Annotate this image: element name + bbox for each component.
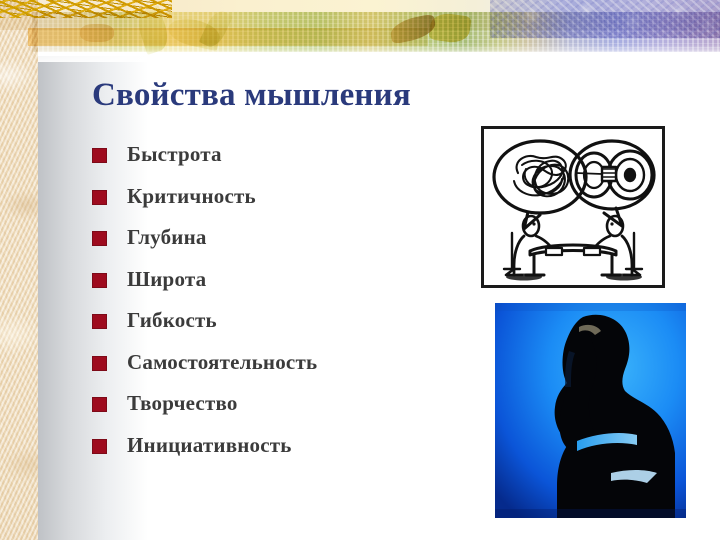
square-bullet-icon [92,148,107,163]
list-item-label: Гибкость [127,308,217,333]
cartoon-two-people-thought-bubbles [481,126,665,288]
list-item: Творчество [92,383,492,425]
slide: Свойства мышления Быстрота Критичность Г… [0,0,720,540]
list-item: Критичность [92,176,492,218]
banner-bottom-fade [38,44,720,62]
square-bullet-icon [92,356,107,371]
page-title: Свойства мышления [92,78,512,113]
list-item-label: Широта [127,267,206,292]
list-item-label: Быстрота [127,142,222,167]
list-item: Глубина [92,217,492,259]
list-item-label: Критичность [127,184,256,209]
square-bullet-icon [92,190,107,205]
list-item-label: Самостоятельность [127,350,317,375]
top-banner [0,0,720,62]
list-item: Инициативность [92,425,492,467]
thinker-silhouette-photo [495,303,686,518]
properties-list: Быстрота Критичность Глубина Широта Гибк… [92,134,492,466]
banner-hydrangea-block [490,0,720,38]
left-edge-texture [0,0,38,540]
list-item-label: Инициативность [127,433,292,458]
list-item-label: Глубина [127,225,207,250]
list-item: Гибкость [92,300,492,342]
square-bullet-icon [92,397,107,412]
cartoon-drawing [484,129,662,285]
square-bullet-icon [92,273,107,288]
banner-leaf-icon [80,24,114,42]
square-bullet-icon [92,439,107,454]
square-bullet-icon [92,314,107,329]
thinker-photo-graphic [495,303,686,518]
list-item: Быстрота [92,134,492,176]
square-bullet-icon [92,231,107,246]
list-item-label: Творчество [127,391,238,416]
list-item: Самостоятельность [92,342,492,384]
list-item: Широта [92,259,492,301]
